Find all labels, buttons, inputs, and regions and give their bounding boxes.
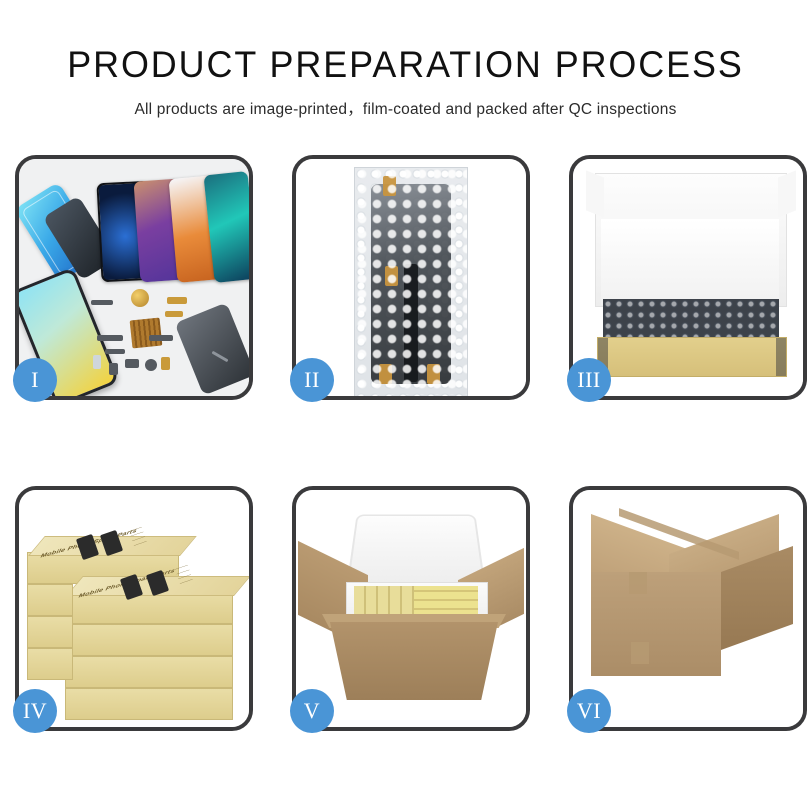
bubble-wrap-layer: [603, 299, 779, 339]
part-connector: [161, 357, 170, 370]
page-subtitle: All products are image-printed，film-coat…: [0, 97, 811, 119]
step-panel-2: II: [292, 155, 530, 400]
step-image-5: [296, 490, 526, 727]
part-speaker: [91, 300, 113, 305]
part-camera: [125, 359, 139, 368]
carton-body: [330, 622, 498, 700]
stack-box-left-2: [27, 616, 73, 648]
stack-box-3: [65, 624, 233, 656]
box-stack: Mobile Phone Spare Parts ———————————— Mo…: [27, 506, 241, 716]
part-gold-flex-2: [165, 311, 183, 317]
kraft-box-base: [597, 337, 787, 377]
phone-back-housing: [174, 302, 249, 395]
stack-box-left-1: [27, 584, 73, 616]
stack-box-left-3: [27, 648, 73, 680]
step-panel-3: III: [569, 155, 807, 400]
foam-sheet: [601, 219, 779, 305]
part-cable-2: [105, 349, 125, 354]
step-badge-4: IV: [13, 689, 57, 733]
step-image-3: [573, 159, 803, 396]
step-badge-2: II: [290, 358, 334, 402]
step-image-1: [19, 159, 249, 396]
step-image-6: [573, 490, 803, 727]
page-title: PRODUCT PREPARATION PROCESS: [12, 44, 799, 86]
carton-front-face: [591, 572, 721, 676]
carton-tape-upper: [629, 572, 647, 594]
part-lens: [145, 359, 157, 371]
step-badge-1: I: [13, 358, 57, 402]
part-coin: [131, 289, 149, 307]
phone-lineup: [93, 169, 249, 281]
step-panel-6: VI: [569, 486, 807, 731]
step-panel-1: I: [15, 155, 253, 400]
step-panel-4: Mobile Phone Spare Parts ———————————— Mo…: [15, 486, 253, 731]
step-image-2: [296, 159, 526, 396]
stack-box-4: [65, 656, 233, 688]
step-badge-5: V: [290, 689, 334, 733]
box-corner-right: [776, 338, 786, 376]
step-badge-3: III: [567, 358, 611, 402]
stack-box-5: [65, 688, 233, 720]
stack-box-front: Mobile Phone Spare Parts: [65, 592, 233, 624]
process-steps-grid: I II III: [15, 155, 808, 731]
part-cable-3: [149, 335, 173, 341]
part-chip-grid: [130, 318, 163, 349]
step-panel-5: V: [292, 486, 530, 731]
carton-tape-lower: [631, 642, 649, 664]
page-header: PRODUCT PREPARATION PROCESS All products…: [0, 0, 811, 119]
part-button: [109, 363, 118, 375]
step-image-4: Mobile Phone Spare Parts ———————————— Mo…: [19, 490, 249, 727]
part-gold-flex-1: [167, 297, 187, 304]
part-cable-1: [97, 335, 123, 341]
bubble-highlight-overlay: [355, 167, 467, 395]
part-sim-tray: [93, 355, 101, 369]
step-badge-6: VI: [567, 689, 611, 733]
